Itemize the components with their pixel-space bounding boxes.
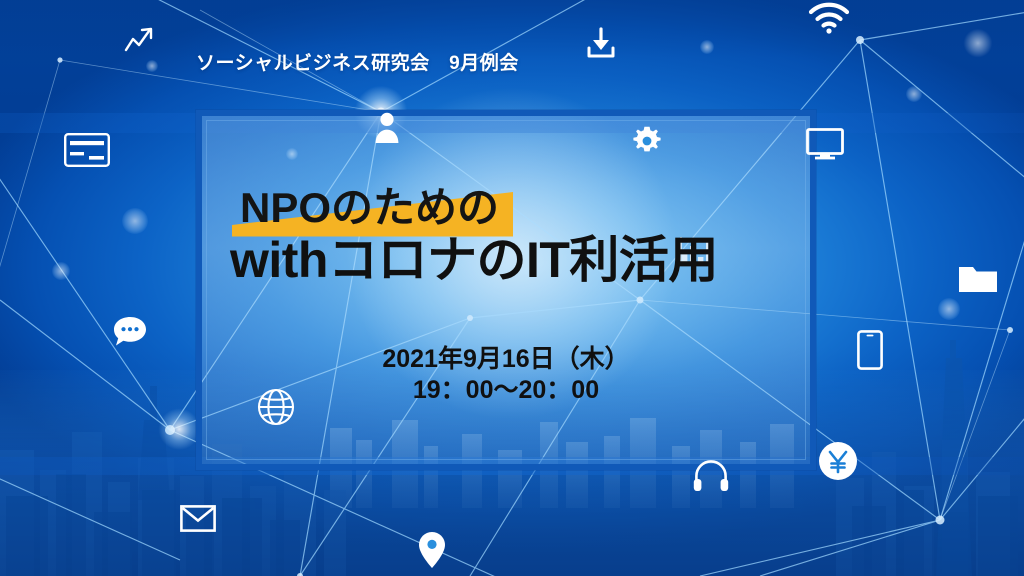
gear-icon <box>632 126 662 156</box>
mail-icon <box>180 505 216 532</box>
chat-bubble-icon <box>112 315 148 347</box>
event-series-title: ソーシャルビジネス研究会 9月例会 <box>196 48 519 75</box>
credit-card-icon <box>64 133 110 167</box>
headphones-icon <box>693 458 729 492</box>
globe-icon <box>257 388 295 426</box>
event-date: 2021年9月16日（木） <box>196 344 816 375</box>
monitor-icon <box>806 128 844 160</box>
yen-circle-icon <box>818 441 858 481</box>
title-line1-container: NPOのための <box>238 186 505 231</box>
location-pin-icon <box>418 531 446 569</box>
trending-up-icon <box>124 26 160 56</box>
title-line2: withコロナのIT利活用 <box>230 233 816 288</box>
title-frame-inner-border <box>206 120 806 460</box>
smartphone-icon <box>857 330 883 370</box>
title-line1: NPOのための <box>240 186 499 231</box>
download-icon <box>585 27 617 59</box>
main-title: NPOのための withコロナのIT利活用 <box>196 186 816 288</box>
user-icon <box>374 112 400 144</box>
wifi-icon <box>808 2 850 34</box>
folder-icon <box>958 264 998 294</box>
event-banner: ソーシャルビジネス研究会 9月例会 NPOのための withコロナのIT利活用 … <box>0 0 1024 576</box>
